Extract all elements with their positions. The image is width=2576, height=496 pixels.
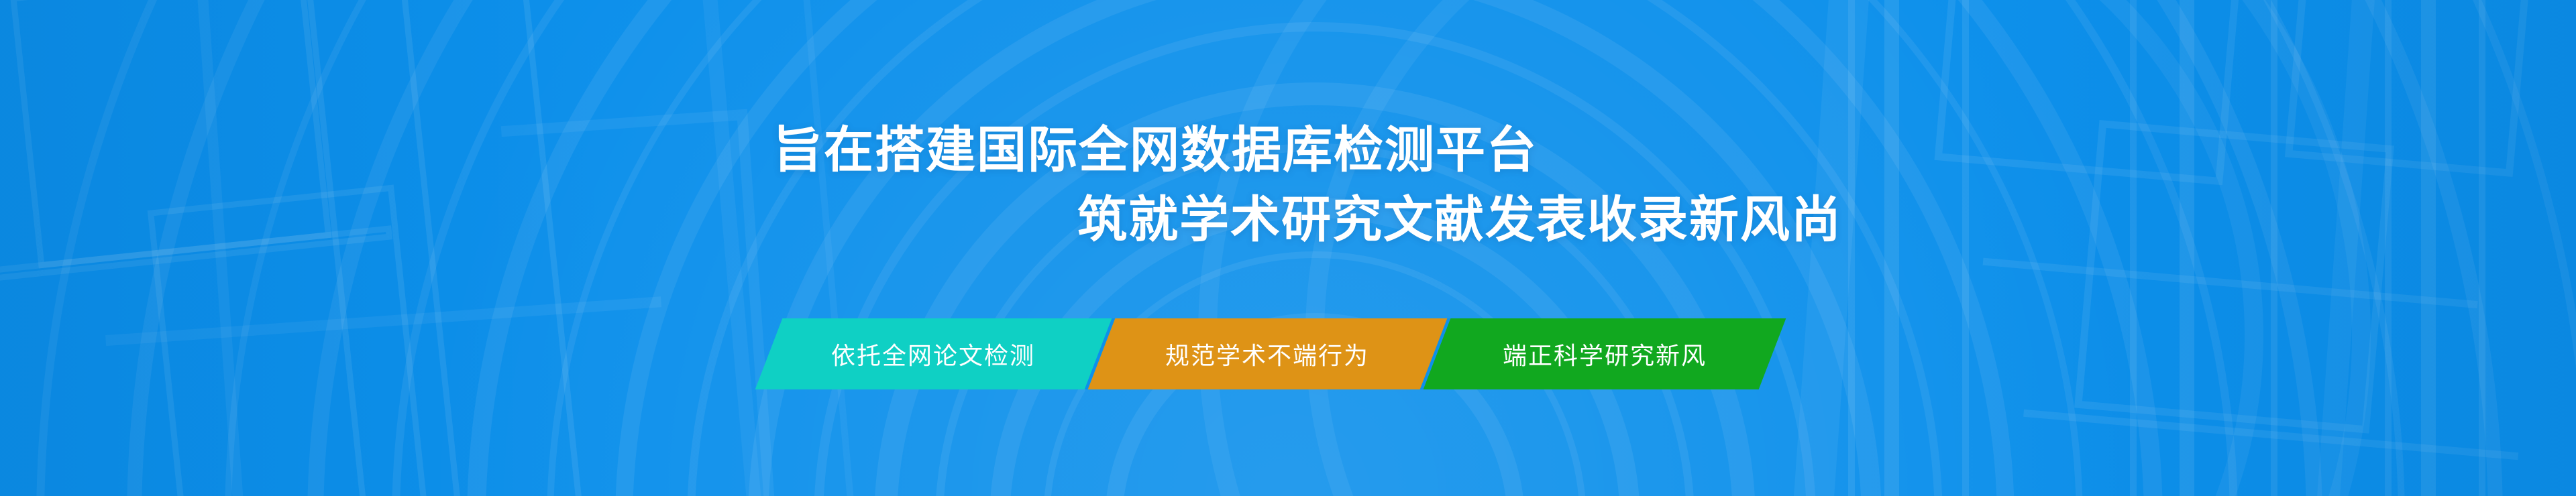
feature-tag-1[interactable]: 规范学术不端行为: [1088, 318, 1451, 389]
background-rings: [0, 0, 2576, 496]
background-glow: [416, 0, 2160, 496]
headline-block: 旨在搭建国际全网数据库检测平台 筑就学术研究文献发表收录新风尚: [0, 115, 2576, 255]
background-edge-right: [1972, 0, 2576, 496]
feature-tag-0[interactable]: 依托全网论文检测: [755, 318, 1116, 389]
background-grid-right: [0, 0, 2576, 496]
feature-tag-2[interactable]: 端正科学研究新风: [1424, 318, 1786, 389]
feature-tag-0-label: 依托全网论文检测: [831, 336, 1035, 371]
headline-line-1: 旨在搭建国际全网数据库检测平台: [0, 115, 2576, 185]
feature-tag-2-label: 端正科学研究新风: [1503, 336, 1707, 371]
hero-banner: 旨在搭建国际全网数据库检测平台 筑就学术研究文献发表收录新风尚 依托全网论文检测…: [0, 0, 2576, 496]
feature-tag-1-label: 规范学术不端行为: [1165, 336, 1369, 371]
feature-tag-band: 依托全网论文检测 规范学术不端行为 端正科学研究新风: [755, 318, 1786, 389]
background-grid-left: [0, 0, 2576, 496]
headline-line-2: 筑就学术研究文献发表收录新风尚: [0, 185, 2576, 255]
background-edge-left: [0, 0, 604, 496]
